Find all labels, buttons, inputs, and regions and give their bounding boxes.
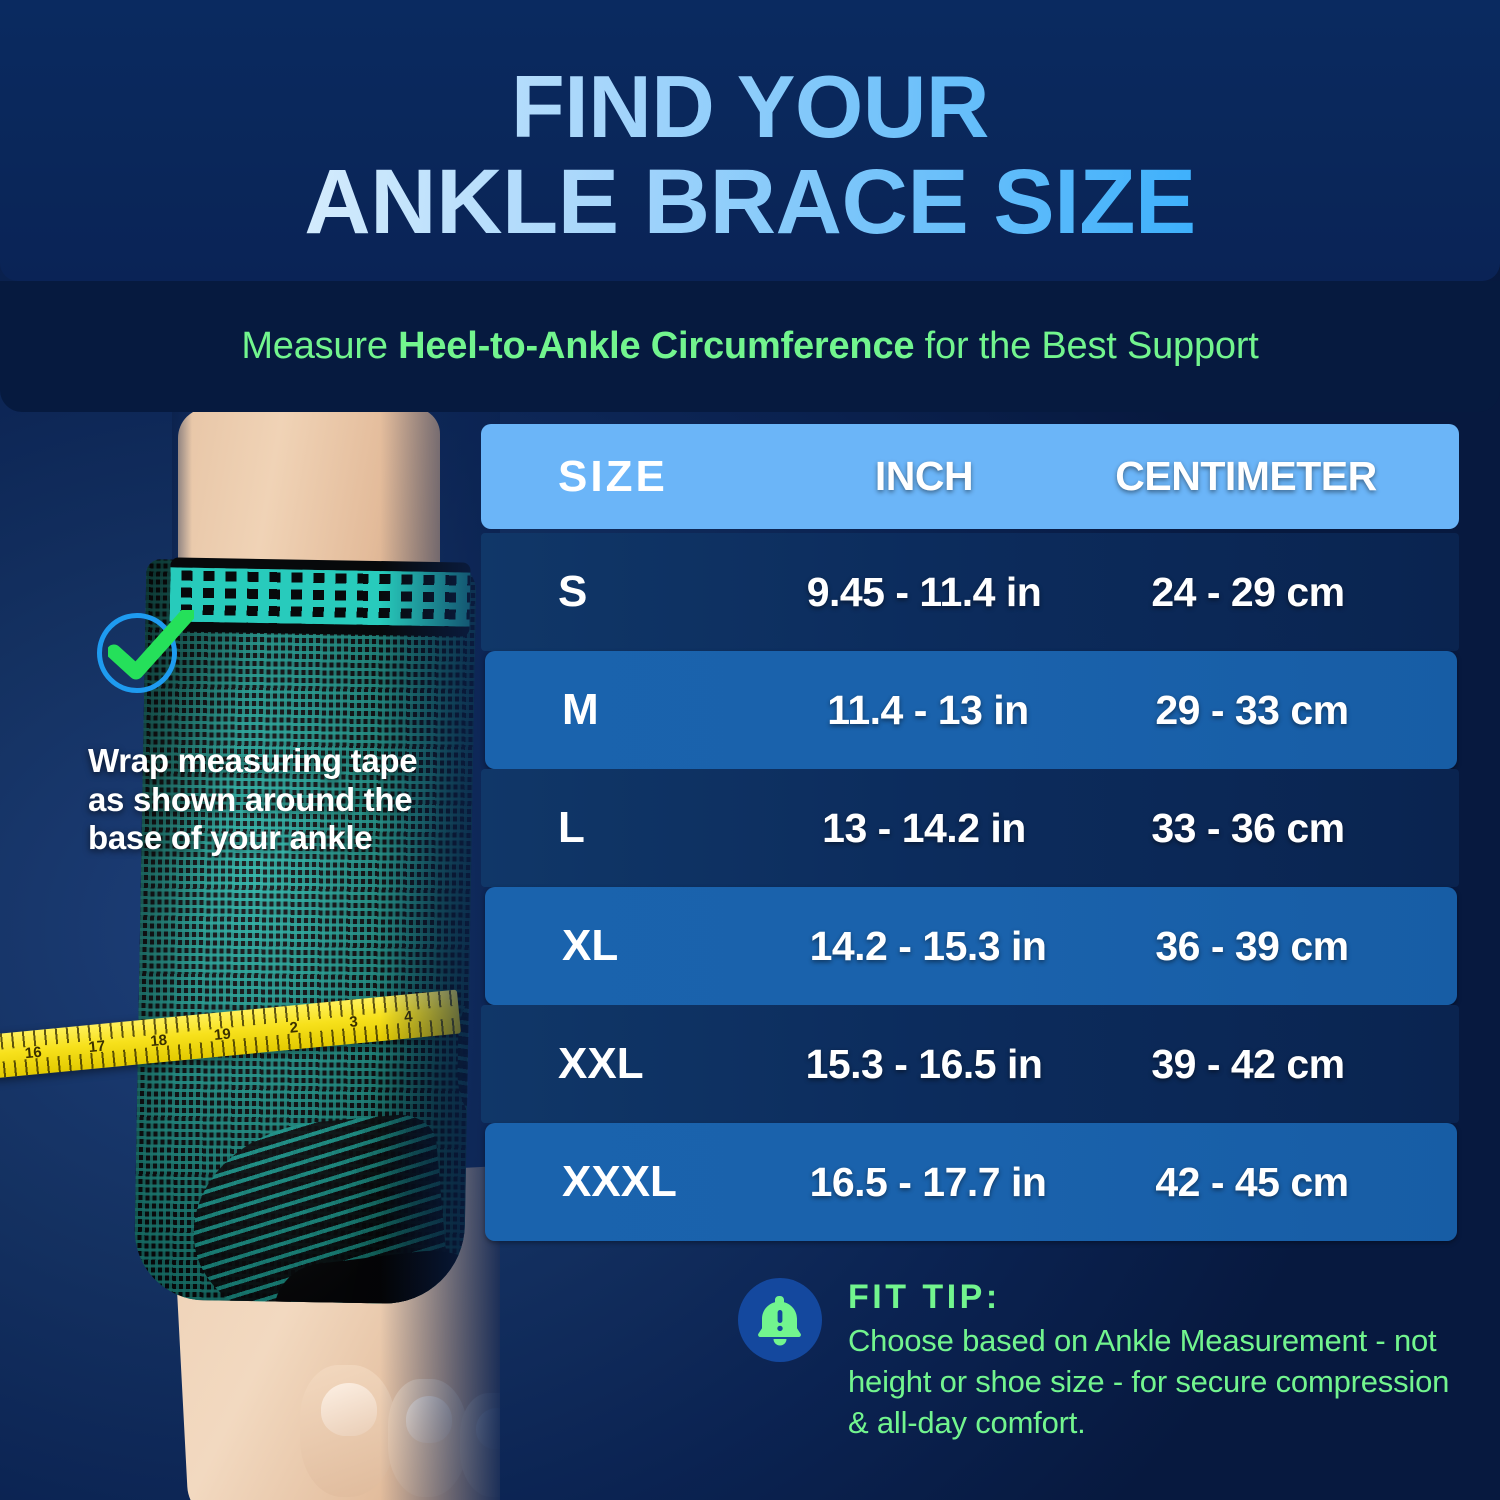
cell-size: XL <box>485 921 778 971</box>
cell-size: L <box>481 803 774 853</box>
tape-number: 2 <box>289 1019 299 1037</box>
tape-number: 17 <box>88 1037 106 1056</box>
subtitle-emphasis: Heel-to-Ankle Circumference <box>398 325 914 367</box>
cell-size: XXXL <box>485 1157 778 1207</box>
cell-inch: 13 - 14.2 in <box>774 805 1074 852</box>
size-chart-table: SIZE INCH CENTIMETER S 9.45 - 11.4 in 24… <box>481 424 1459 1241</box>
cell-cm: 29 - 33 cm <box>1078 687 1446 734</box>
table-header-row: SIZE INCH CENTIMETER <box>481 424 1459 529</box>
page-title-line-2: ANKLE BRACE SIZE <box>0 156 1500 250</box>
tape-number: 18 <box>150 1031 168 1050</box>
cell-cm: 42 - 45 cm <box>1078 1159 1446 1206</box>
infographic-canvas: FIND YOUR ANKLE BRACE SIZE Measure Heel-… <box>0 0 1500 1500</box>
bell-icon-circle <box>738 1278 822 1362</box>
cell-cm: 36 - 39 cm <box>1078 923 1446 970</box>
tape-number: 19 <box>213 1025 231 1044</box>
table-row[interactable]: XL 14.2 - 15.3 in 36 - 39 cm <box>485 887 1457 1005</box>
column-header-inch: INCH <box>774 453 1074 500</box>
product-photo: 16 17 18 19 2 3 4 <box>0 412 500 1500</box>
cell-size: S <box>481 567 774 617</box>
cell-inch: 9.45 - 11.4 in <box>774 569 1074 616</box>
table-row[interactable]: XXL 15.3 - 16.5 in 39 - 42 cm <box>481 1005 1459 1123</box>
fit-tip-text: Choose based on Ankle Measurement - not … <box>848 1321 1458 1444</box>
cell-inch: 11.4 - 13 in <box>778 687 1078 734</box>
cell-cm: 24 - 29 cm <box>1074 569 1442 616</box>
tape-number: 3 <box>349 1013 359 1031</box>
toenail <box>321 1383 377 1436</box>
subtitle-prefix: Measure <box>241 325 398 367</box>
cell-size: M <box>485 685 778 735</box>
fit-tip-body: FIT TIP: Choose based on Ankle Measureme… <box>848 1276 1458 1444</box>
cell-cm: 33 - 36 cm <box>1074 805 1442 852</box>
bell-alert-icon <box>755 1293 805 1347</box>
page-title-line-1: FIND YOUR <box>0 62 1500 152</box>
cell-cm: 39 - 42 cm <box>1074 1041 1442 1088</box>
check-mark-icon <box>108 610 194 688</box>
cell-inch: 14.2 - 15.3 in <box>778 923 1078 970</box>
title-band: FIND YOUR ANKLE BRACE SIZE <box>0 0 1500 281</box>
tape-number: 16 <box>24 1043 42 1062</box>
table-row[interactable]: M 11.4 - 13 in 29 - 33 cm <box>485 651 1457 769</box>
fit-tip-title: FIT TIP: <box>848 1278 1458 1317</box>
subtitle-text: Measure Heel-to-Ankle Circumference for … <box>241 325 1258 368</box>
cell-inch: 15.3 - 16.5 in <box>774 1041 1074 1088</box>
table-row[interactable]: S 9.45 - 11.4 in 24 - 29 cm <box>481 533 1459 651</box>
subtitle-suffix: for the Best Support <box>914 325 1258 367</box>
cell-inch: 16.5 - 17.7 in <box>778 1159 1078 1206</box>
table-row[interactable]: L 13 - 14.2 in 33 - 36 cm <box>481 769 1459 887</box>
subtitle-band: Measure Heel-to-Ankle Circumference for … <box>0 281 1500 412</box>
cell-size: XXL <box>481 1039 774 1089</box>
column-header-size: SIZE <box>481 452 774 502</box>
table-row[interactable]: XXXL 16.5 - 17.7 in 42 - 45 cm <box>485 1123 1457 1241</box>
title-wrap: FIND YOUR ANKLE BRACE SIZE <box>0 62 1500 250</box>
column-header-centimeter: CENTIMETER <box>1074 453 1442 500</box>
fit-tip-block: FIT TIP: Choose based on Ankle Measureme… <box>738 1276 1458 1444</box>
measure-instruction-text: Wrap measuring tape as shown around the … <box>88 742 418 858</box>
